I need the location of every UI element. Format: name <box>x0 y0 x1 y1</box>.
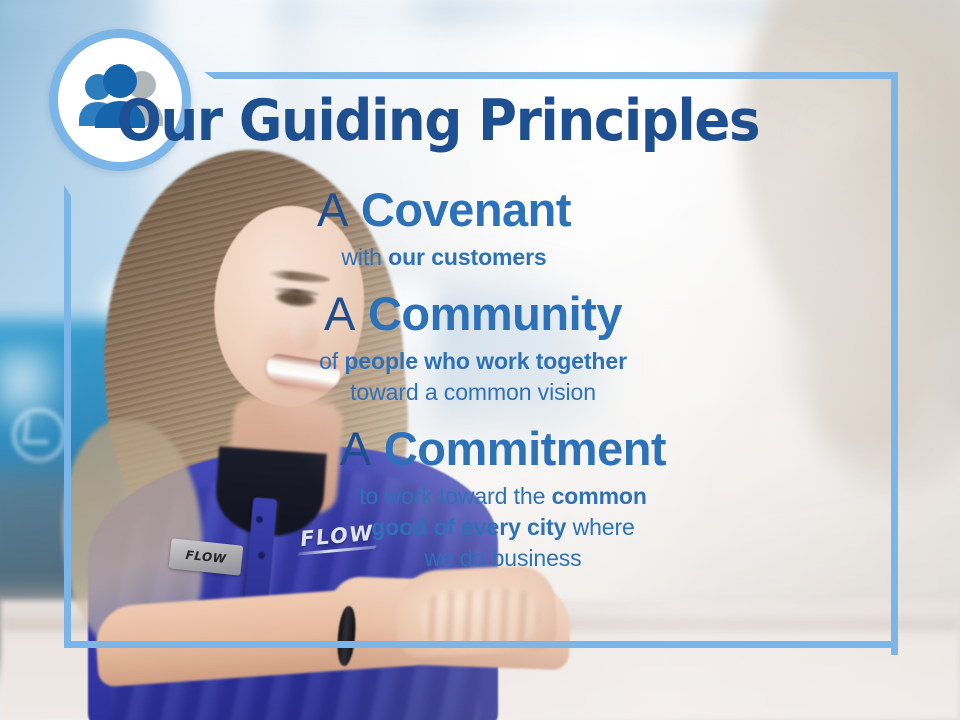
subtitle-emphasis: common <box>552 483 647 509</box>
subtitle-emphasis-2: good of every city <box>371 514 566 540</box>
subtitle-prefix: with <box>341 244 388 270</box>
guiding-principles-graphic: FLOW FLOW <box>0 0 960 720</box>
principle-subtitle: to work toward the common good of every … <box>126 481 880 573</box>
principle-covenant: A Covenant with our customers <box>8 186 880 272</box>
principle-commitment: A Commitment to work toward the common g… <box>126 425 880 573</box>
subtitle-emphasis: our customers <box>388 244 546 270</box>
frame-border-bottom <box>64 641 898 648</box>
subtitle-suffix: where <box>566 514 634 540</box>
employee-fingers <box>419 587 542 649</box>
principle-article: A <box>317 183 348 236</box>
subtitle-prefix: of <box>319 348 344 374</box>
principle-keyword: Commitment <box>384 422 666 475</box>
principle-title: A Community <box>66 290 880 339</box>
subtitle-line-2: toward a common vision <box>350 379 596 405</box>
principles-list: A Covenant with our customers A Communit… <box>0 186 880 573</box>
subtitle-prefix: to work toward the <box>359 483 551 509</box>
principle-community: A Community of people who work together … <box>66 290 880 407</box>
principle-title: A Covenant <box>8 186 880 235</box>
principle-title: A Commitment <box>126 425 880 474</box>
principle-keyword: Community <box>368 287 622 340</box>
subtitle-line-3: we do business <box>424 545 581 571</box>
principle-article: A <box>324 287 355 340</box>
frame-border-top <box>214 72 898 79</box>
principle-article: A <box>340 422 371 475</box>
frame-border-right <box>891 72 898 655</box>
subtitle-emphasis: people who work together <box>344 348 627 374</box>
principle-subtitle: with our customers <box>8 242 880 273</box>
principle-subtitle: of people who work together toward a com… <box>66 346 880 407</box>
principle-keyword: Covenant <box>361 183 571 236</box>
page-title: Our Guiding Principles <box>31 93 846 150</box>
